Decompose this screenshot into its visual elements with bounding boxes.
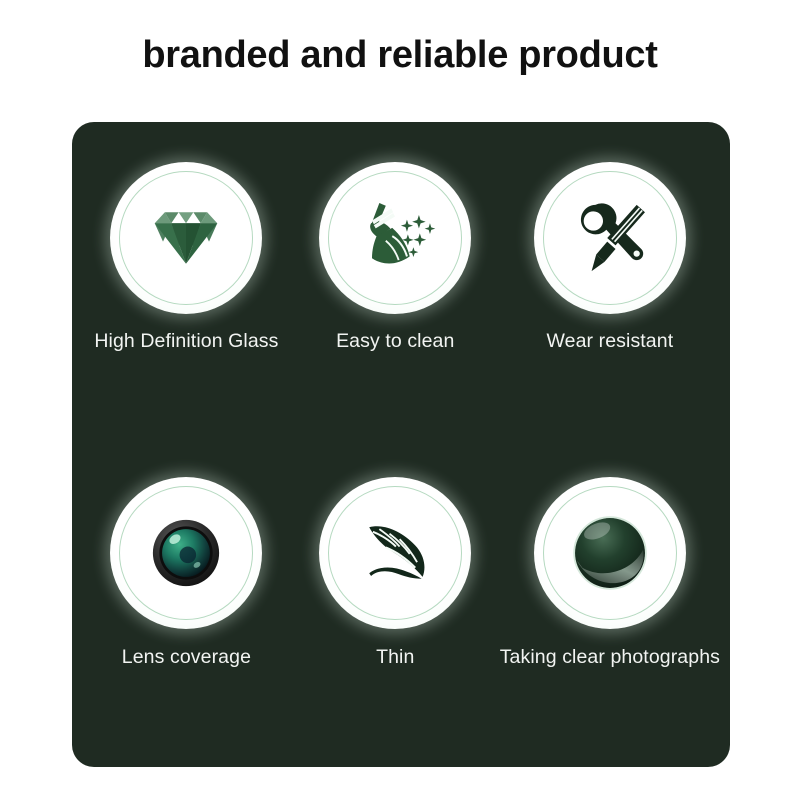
- feature-label: Lens coverage: [122, 646, 251, 669]
- feature-item-taking-clear-photographs[interactable]: Taking clear photographs: [500, 449, 720, 754]
- feature-badge: [319, 162, 471, 314]
- camera-lens-icon: [140, 507, 232, 599]
- feature-label: High Definition Glass: [94, 330, 278, 353]
- feature-label: Wear resistant: [546, 330, 673, 353]
- feature-grid: High Definition Glass: [72, 122, 730, 767]
- feature-badge: [534, 162, 686, 314]
- feature-badge: [319, 477, 471, 629]
- feature-label: Taking clear photographs: [500, 646, 720, 669]
- product-feature-infographic: branded and reliable product: [0, 0, 800, 800]
- feature-badge: [534, 477, 686, 629]
- feature-card: High Definition Glass: [72, 122, 730, 767]
- wrench-screwdriver-icon: [564, 192, 656, 284]
- feature-label: Thin: [376, 646, 414, 669]
- feature-badge: [110, 162, 262, 314]
- page-title: branded and reliable product: [0, 34, 800, 77]
- feature-item-easy-to-clean[interactable]: Easy to clean: [291, 144, 500, 449]
- feature-badge: [110, 477, 262, 629]
- broom-sparkle-icon: [349, 192, 441, 284]
- diamond-icon: [140, 192, 232, 284]
- feature-item-high-definition-glass[interactable]: High Definition Glass: [82, 144, 291, 449]
- glossy-dome-icon: [564, 507, 656, 599]
- feature-label: Easy to clean: [336, 330, 454, 353]
- feature-item-lens-coverage[interactable]: Lens coverage: [82, 449, 291, 754]
- feature-item-wear-resistant[interactable]: Wear resistant: [500, 144, 720, 449]
- feather-icon: [349, 507, 441, 599]
- feature-item-thin[interactable]: Thin: [291, 449, 500, 754]
